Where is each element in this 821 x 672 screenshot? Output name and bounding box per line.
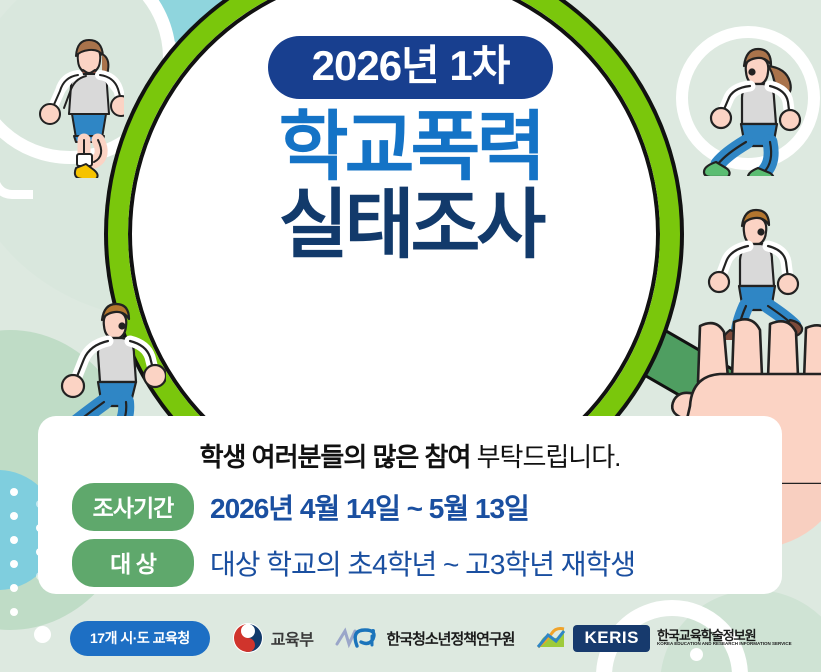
footer-logo-bar: 17개 시·도 교육청 교육부 한국청소년정책연구원 bbox=[0, 604, 821, 672]
label-target: 대 상 bbox=[72, 539, 194, 587]
logo-label-nypi: 한국청소년정책연구원 bbox=[386, 628, 514, 649]
participation-request: 학생 여러분들의 많은 참여 부탁드립니다. bbox=[38, 442, 782, 473]
logo-nypi: 한국청소년정책연구원 bbox=[335, 626, 514, 650]
poster-root: 2026년 1차 학교폭력 실태조사 학생 여러분들의 많은 참여 부탁드립니다… bbox=[0, 0, 821, 672]
badge-17-education-offices: 17개 시·도 교육청 bbox=[70, 621, 210, 656]
label-survey-period: 조사기간 bbox=[72, 483, 194, 531]
value-survey-period: 2026년 4월 14일 ~ 5월 13일 bbox=[210, 487, 529, 527]
logo-label-moe: 교육부 bbox=[271, 626, 314, 650]
participation-request-bold: 학생 여러분들의 많은 참여 bbox=[200, 442, 471, 472]
participation-request-rest: 부탁드립니다. bbox=[470, 442, 620, 472]
keris-korean-name: 한국교육학술정보원 KOREA EDUCATION AND RESEARCH I… bbox=[657, 629, 792, 647]
info-row-target: 대 상 대상 학교의 초4학년 ~ 고3학년 재학생 bbox=[72, 539, 748, 587]
taegeuk-icon bbox=[232, 622, 264, 654]
info-row-survey-period: 조사기간 2026년 4월 14일 ~ 5월 13일 bbox=[72, 483, 748, 531]
keris-english-text: KOREA EDUCATION AND RESEARCH INFORMATION… bbox=[657, 642, 792, 647]
keris-korean-text: 한국교육학술정보원 bbox=[657, 629, 792, 643]
value-target: 대상 학교의 초4학년 ~ 고3학년 재학생 bbox=[210, 543, 635, 583]
cheering-girl-student bbox=[28, 28, 124, 178]
nypi-icon bbox=[335, 626, 379, 650]
logo-keris: KERIS 한국교육학술정보원 KOREA EDUCATION AND RESE… bbox=[536, 625, 791, 652]
keris-mark-icon bbox=[536, 625, 566, 651]
info-rows: 조사기간 2026년 4월 14일 ~ 5월 13일 대 상 대상 학교의 초4… bbox=[38, 483, 782, 587]
logo-ministry-of-education: 교육부 bbox=[232, 622, 314, 654]
info-card: 학생 여러분들의 많은 참여 부탁드립니다. 조사기간 2026년 4월 14일… bbox=[38, 416, 782, 594]
running-girl-student bbox=[684, 36, 814, 176]
keris-wordmark: KERIS bbox=[573, 625, 649, 652]
year-badge: 2026년 1차 bbox=[268, 36, 554, 99]
